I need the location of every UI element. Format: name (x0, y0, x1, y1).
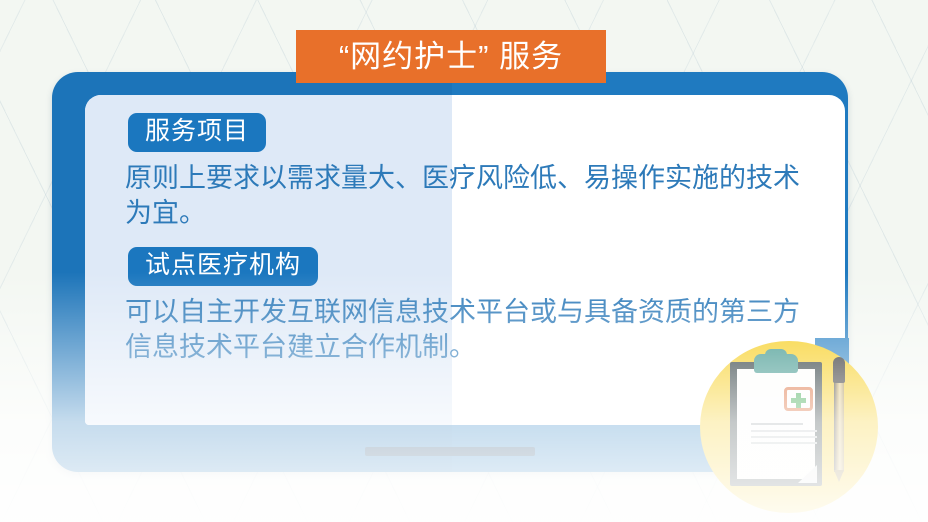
clipboard-badge (700, 341, 878, 513)
section-label-pilot-institutions: 试点医疗机构 (128, 247, 318, 286)
pen-cap (833, 357, 845, 383)
clipboard-icon (730, 362, 822, 486)
medical-cross-icon (784, 387, 813, 411)
paper-line (751, 430, 817, 432)
paper-line (751, 436, 817, 438)
section-label-service-items: 服务项目 (128, 113, 266, 152)
cross-vertical-bar (796, 393, 801, 408)
pen-icon (834, 374, 844, 472)
page-title: “网约护士” 服务 (339, 41, 563, 72)
clipboard-clip-knob (765, 349, 787, 360)
title-banner: “网约护士” 服务 (296, 30, 606, 83)
paper-line (751, 442, 817, 444)
clipboard-paper (737, 369, 815, 479)
section-body-service-items: 原则上要求以需求量大、医疗风险低、易操作实施的技术为宜。 (125, 161, 815, 231)
slide-canvas: 服务项目 原则上要求以需求量大、医疗风险低、易操作实施的技术为宜。 试点医疗机构… (0, 0, 928, 522)
paper-line (751, 423, 803, 425)
monitor-stand-bar (365, 447, 535, 456)
section-service-items: 服务项目 原则上要求以需求量大、医疗风险低、易操作实施的技术为宜。 (128, 113, 821, 231)
